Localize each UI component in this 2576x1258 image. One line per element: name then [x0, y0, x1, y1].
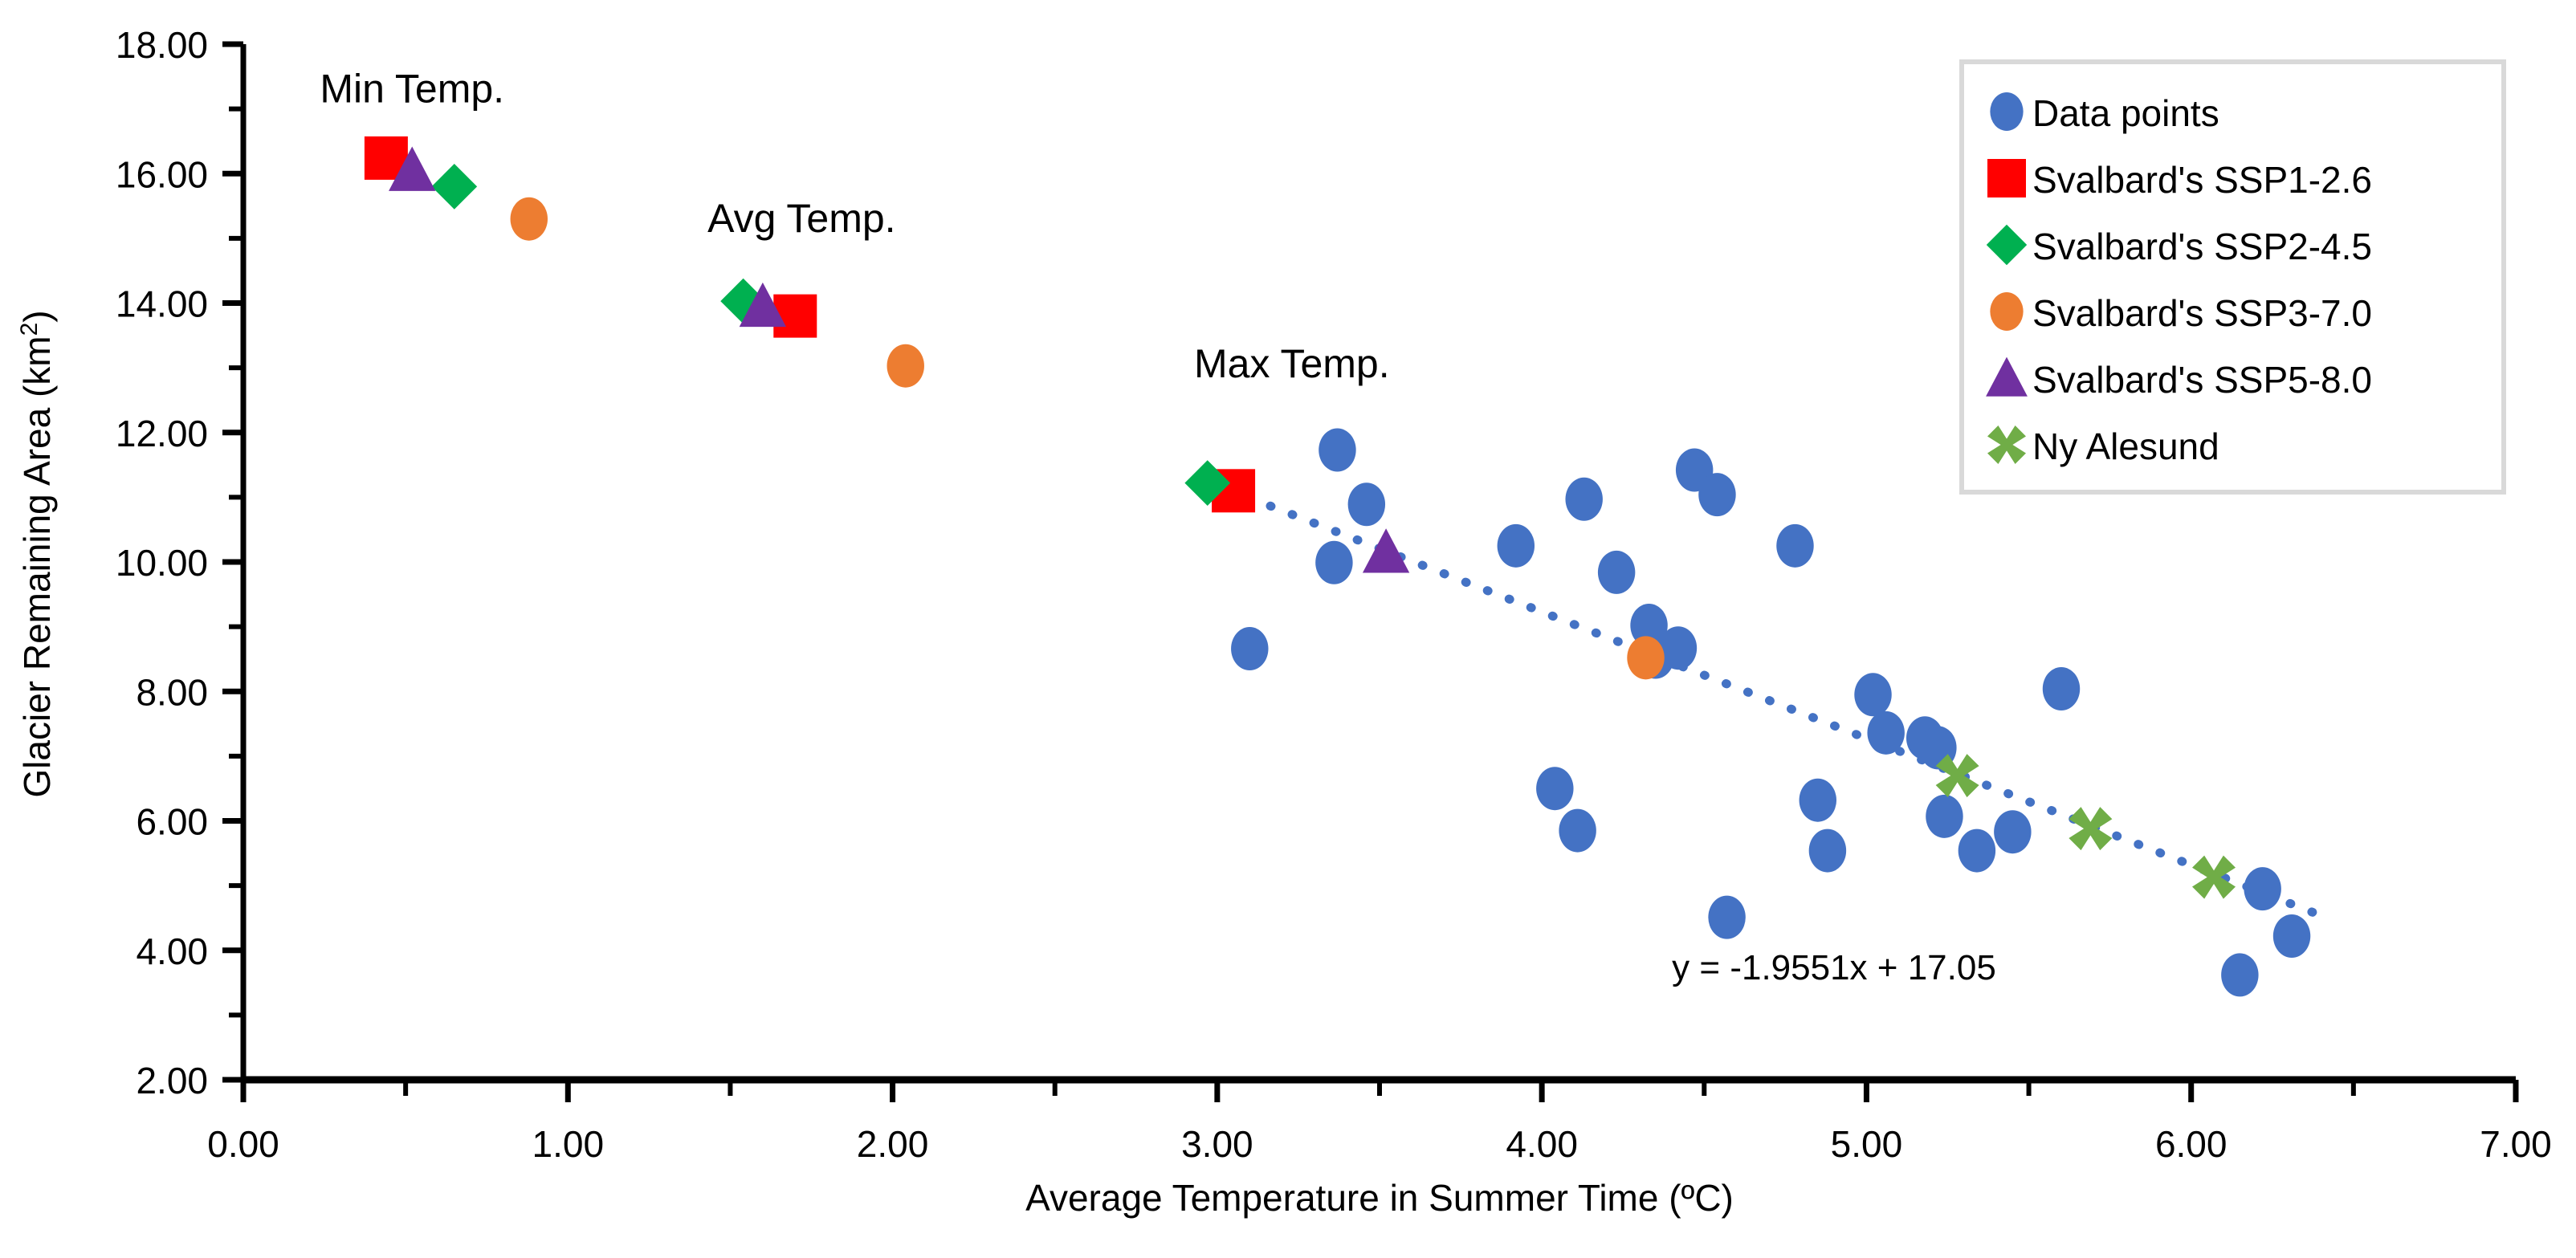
data-point-marker [1936, 754, 1979, 797]
y-axis-tick-label: 12.00 [116, 413, 208, 454]
x-axis-title: Average Temperature in Summer Time (ºC) [1025, 1177, 1734, 1219]
data-point-marker [1348, 482, 1385, 526]
x-axis-tick-label: 7.00 [2480, 1123, 2552, 1165]
data-point-marker [1800, 779, 1836, 822]
y-axis-title-main: Glacier Remaining Area (km [16, 336, 58, 797]
data-point-marker [1708, 896, 1745, 939]
legend-item-label: Data points [2032, 92, 2219, 134]
legend-item-label: Ny Alesund [2032, 425, 2219, 467]
legend-marker-square-icon [1987, 159, 2026, 197]
data-point-marker [1660, 626, 1697, 670]
data-point-marker [1809, 829, 1846, 873]
chart-annotation: Avg Temp. [707, 196, 895, 241]
data-point-marker [1958, 829, 1995, 873]
y-axis-tick-label: 10.00 [116, 542, 208, 584]
scatter-plot-canvas: 2.004.006.008.0010.0012.0014.0016.0018.0… [0, 0, 2576, 1258]
y-axis-tick-label: 6.00 [136, 801, 208, 843]
data-point-marker [1867, 711, 1904, 755]
legend-marker-circle-icon [1990, 92, 2023, 131]
legend-item-label: Svalbard's SSP5-8.0 [2032, 359, 2372, 401]
data-point-marker [2069, 807, 2112, 850]
data-point-marker [1363, 528, 1409, 572]
data-point-marker [1776, 524, 1813, 568]
data-point-marker [1498, 524, 1535, 568]
chart-annotation: y = -1.9551x + 17.05 [1672, 948, 1996, 987]
y-axis-tick-label: 14.00 [116, 283, 208, 325]
x-axis-tick-label: 6.00 [2155, 1123, 2228, 1165]
svg-text:Glacier Remaining Area (km2): Glacier Remaining Area (km2) [16, 310, 58, 797]
data-point-marker [1994, 810, 2031, 853]
chart-figure: 2.004.006.008.0010.0012.0014.0016.0018.0… [0, 0, 2576, 1258]
data-point-marker [1536, 767, 1573, 810]
data-point-marker [1926, 795, 1963, 838]
data-point-marker [1559, 809, 1596, 853]
legend-item[interactable]: Svalbard's SSP3-7.0 [1990, 292, 2372, 334]
data-point-marker [431, 164, 477, 210]
data-point-marker [2221, 953, 2258, 996]
data-point-marker [887, 344, 924, 388]
legend-marker-circle-icon [1990, 292, 2023, 331]
legend-item[interactable]: Svalbard's SSP5-8.0 [1986, 357, 2372, 401]
x-axis-tick-label: 3.00 [1181, 1123, 1253, 1165]
legend-item-label: Svalbard's SSP2-4.5 [2032, 226, 2372, 267]
legend-box: Data pointsSvalbard's SSP1-2.6Svalbard's… [1962, 62, 2504, 492]
data-point-marker [2244, 867, 2280, 910]
y-axis-tick-label: 18.00 [116, 24, 208, 66]
y-axis-tick-label: 2.00 [136, 1060, 208, 1101]
y-axis-title-superscript: 2 [16, 323, 43, 336]
data-point-marker [1598, 551, 1635, 594]
x-axis-tick-label: 1.00 [532, 1123, 605, 1165]
legend-item-label: Svalbard's SSP1-2.6 [2032, 159, 2372, 201]
data-point-marker [1319, 429, 1355, 472]
y-axis-title: Glacier Remaining Area (km2) [16, 310, 58, 797]
y-axis-tick-label: 4.00 [136, 930, 208, 972]
data-point-marker [1315, 541, 1352, 584]
legend-item[interactable]: Svalbard's SSP2-4.5 [1987, 225, 2372, 267]
legend-item[interactable]: Svalbard's SSP1-2.6 [1987, 159, 2372, 201]
data-point-marker [1231, 627, 1268, 670]
x-axis-tick-label: 5.00 [1831, 1123, 1903, 1165]
y-axis-title-tail: ) [16, 310, 58, 322]
chart-annotation: Max Temp. [1194, 341, 1390, 386]
x-axis-tick-label: 4.00 [1506, 1123, 1578, 1165]
data-point-marker [1627, 636, 1664, 679]
data-point-marker [1565, 478, 1602, 521]
data-point-marker [511, 197, 548, 241]
y-axis-tick-label: 8.00 [136, 671, 208, 713]
data-point-marker [2043, 667, 2080, 710]
data-point-marker [1854, 673, 1891, 716]
x-axis-tick-label: 0.00 [207, 1123, 279, 1165]
legend-item-label: Svalbard's SSP3-7.0 [2032, 292, 2372, 334]
annotations-layer: Min Temp.Avg Temp.Max Temp.y = -1.9551x … [320, 67, 1995, 987]
y-axis-tick-label: 16.00 [116, 153, 208, 195]
chart-annotation: Min Temp. [320, 67, 504, 112]
x-axis-tick-label: 2.00 [857, 1123, 929, 1165]
data-point-marker [2273, 914, 2310, 958]
data-point-marker [1698, 473, 1735, 516]
